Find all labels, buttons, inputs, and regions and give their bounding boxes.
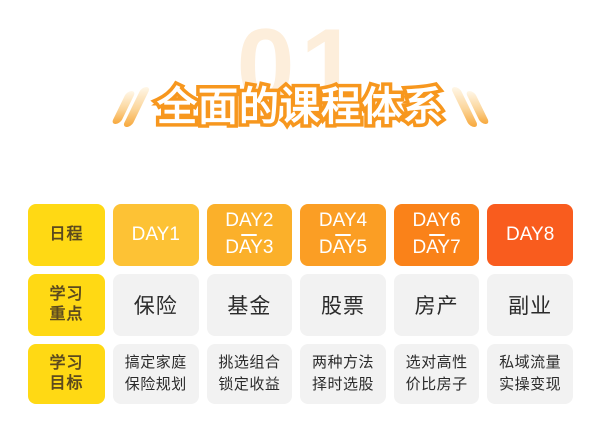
slash-decoration-right-icon <box>460 84 482 130</box>
row-label-focus: 学习 重点 <box>28 274 105 336</box>
row-label-line: 目标 <box>49 374 83 394</box>
goal-cell-line: 实操变现 <box>499 374 561 396</box>
focus-cell-day8[interactable]: 副业 <box>487 274 573 336</box>
header-cell-day1[interactable]: DAY1 <box>113 204 199 266</box>
table-row-schedule: 日程 DAY1 DAY2 DAY3 DAY4 DAY5 DAY6 DAY7 DA… <box>28 204 573 266</box>
range-dash-icon <box>335 234 351 236</box>
banner-section: 01 全面的课程体系 <box>0 0 601 180</box>
goal-cell-line: 择时选股 <box>312 374 374 396</box>
header-cell-line: DAY5 <box>319 238 367 259</box>
header-cell-day6-day7[interactable]: DAY6 DAY7 <box>394 204 480 266</box>
page-title: 全面的课程体系 <box>157 85 444 129</box>
header-cell-line: DAY3 <box>225 238 273 259</box>
table-row-focus: 学习 重点 保险 基金 股票 房产 副业 <box>28 274 573 336</box>
header-cell-day4-day5[interactable]: DAY4 DAY5 <box>300 204 386 266</box>
header-cell-line: DAY8 <box>506 225 554 246</box>
goal-cell-line: 价比房子 <box>406 374 468 396</box>
goal-cell-line: 锁定收益 <box>218 374 280 396</box>
focus-cell-day2-day3[interactable]: 基金 <box>207 274 293 336</box>
goal-cell-line: 挑选组合 <box>218 352 280 374</box>
row-label-line: 学习 <box>49 285 83 305</box>
table-row-goal: 学习 目标 搞定家庭 保险规划 挑选组合 锁定收益 两种方法 择时选股 选对高性… <box>28 344 573 404</box>
row-label-line: 日程 <box>49 225 83 245</box>
slash-decoration-left-icon <box>119 84 141 130</box>
row-label-schedule: 日程 <box>28 204 105 266</box>
header-cell-line: DAY6 <box>412 211 460 232</box>
goal-cell-day2-day3[interactable]: 挑选组合 锁定收益 <box>207 344 293 404</box>
goal-cell-line: 两种方法 <box>312 352 374 374</box>
header-cell-line: DAY1 <box>132 225 180 246</box>
goal-cell-day1[interactable]: 搞定家庭 保险规划 <box>113 344 199 404</box>
header-cell-line: DAY7 <box>412 238 460 259</box>
row-label-line: 学习 <box>49 354 83 374</box>
focus-cell-day1[interactable]: 保险 <box>113 274 199 336</box>
header-cell-day8[interactable]: DAY8 <box>487 204 573 266</box>
range-dash-icon <box>429 234 445 236</box>
curriculum-table: 日程 DAY1 DAY2 DAY3 DAY4 DAY5 DAY6 DAY7 DA… <box>28 204 573 404</box>
goal-cell-day4-day5[interactable]: 两种方法 择时选股 <box>300 344 386 404</box>
goal-cell-line: 搞定家庭 <box>125 352 187 374</box>
header-cell-line: DAY2 <box>225 211 273 232</box>
goal-cell-line: 选对高性 <box>406 352 468 374</box>
title-row: 全面的课程体系 <box>0 84 601 130</box>
row-label-line: 重点 <box>49 305 83 325</box>
focus-cell-day6-day7[interactable]: 房产 <box>394 274 480 336</box>
range-dash-icon <box>241 234 257 236</box>
goal-cell-day6-day7[interactable]: 选对高性 价比房子 <box>394 344 480 404</box>
goal-cell-line: 保险规划 <box>125 374 187 396</box>
row-label-goal: 学习 目标 <box>28 344 105 404</box>
header-cell-day2-day3[interactable]: DAY2 DAY3 <box>207 204 293 266</box>
goal-cell-day8[interactable]: 私域流量 实操变现 <box>487 344 573 404</box>
header-cell-line: DAY4 <box>319 211 367 232</box>
goal-cell-line: 私域流量 <box>499 352 561 374</box>
focus-cell-day4-day5[interactable]: 股票 <box>300 274 386 336</box>
